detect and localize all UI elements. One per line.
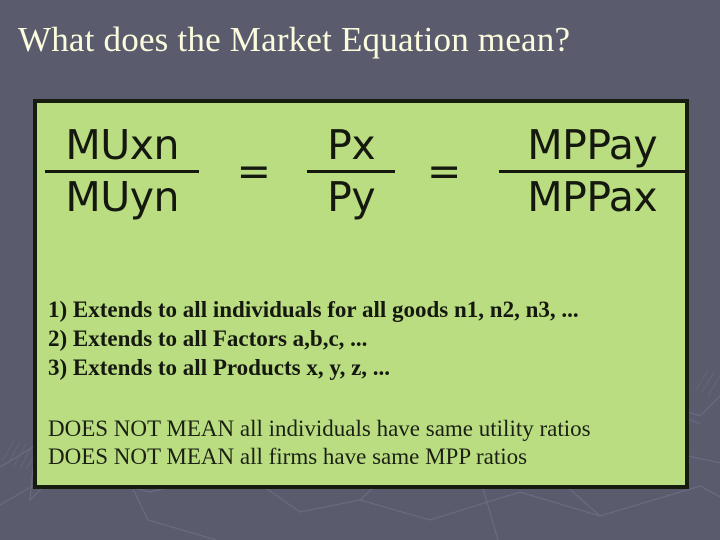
- market-equation: MUxn MUyn = Px Py = MPPay MPPax: [37, 109, 685, 233]
- content-panel: MUxn MUyn = Px Py = MPPay MPPax 1) Exten…: [33, 99, 689, 489]
- fraction-denominator: Py: [323, 177, 379, 218]
- fraction-marginal-physical-product: MPPay MPPax: [499, 125, 685, 218]
- page-title: What does the Market Equation mean?: [18, 18, 708, 62]
- list-item: 2) Extends to all Factors a,b,c, ...: [48, 324, 678, 353]
- fraction-numerator: Px: [323, 125, 379, 166]
- list-item: 3) Extends to all Products x, y, z, ...: [48, 353, 678, 382]
- does-not-mean-notes: DOES NOT MEAN all individuals have same …: [48, 415, 678, 471]
- presentation-slide: What does the Market Equation mean? MUxn…: [0, 0, 720, 540]
- fraction-denominator: MPPax: [523, 177, 661, 218]
- fraction-numerator: MPPay: [523, 125, 661, 166]
- extends-list: 1) Extends to all individuals for all go…: [48, 295, 678, 382]
- note-line: DOES NOT MEAN all individuals have same …: [48, 415, 678, 443]
- list-item: 1) Extends to all individuals for all go…: [48, 295, 678, 324]
- note-line: DOES NOT MEAN all firms have same MPP ra…: [48, 443, 678, 471]
- fraction-numerator: MUxn: [61, 125, 183, 166]
- fraction-prices: Px Py: [307, 125, 395, 218]
- fraction-marginal-utility: MUxn MUyn: [45, 125, 199, 218]
- equals-sign-2: =: [421, 151, 467, 192]
- fraction-denominator: MUyn: [61, 177, 183, 218]
- equals-sign-1: =: [231, 151, 277, 192]
